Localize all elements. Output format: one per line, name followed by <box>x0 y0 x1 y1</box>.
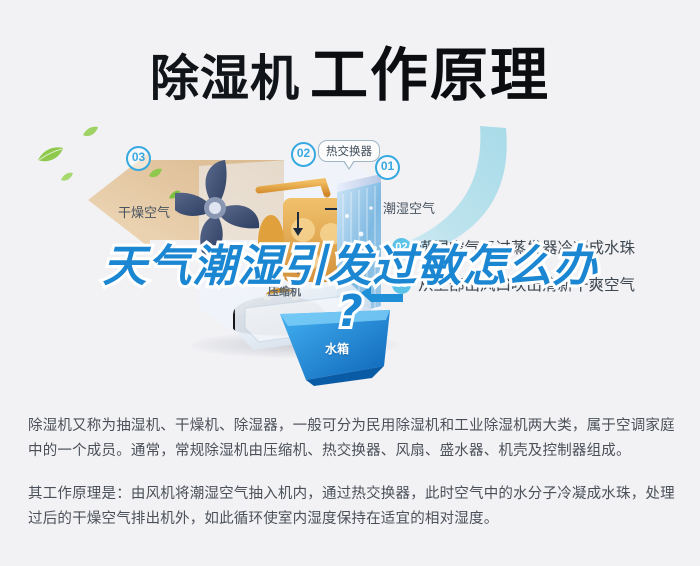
callout-bubble-heat-exchanger: 热交换器 <box>318 140 380 162</box>
page-title-part1: 除湿机 <box>150 50 300 107</box>
leaf-icon <box>36 146 64 164</box>
callout-bubble-label: 热交换器 <box>326 144 372 158</box>
callout-label-dry-air: 干燥空气 <box>118 202 170 221</box>
legend-item: 02 潮湿空气经过蒸发器冷凝成水珠 <box>392 236 692 258</box>
legend-text-03: 从上部出风口吹出清新干爽空气 <box>418 273 635 295</box>
callout-badge-02: 02 <box>291 142 316 167</box>
leaf-icon <box>148 168 163 179</box>
part-label-water-tank: 水箱 <box>325 340 349 357</box>
leaf-icon <box>60 172 74 182</box>
legend-text-02: 潮湿空气经过蒸发器冷凝成水珠 <box>418 236 635 258</box>
part-label-compressor: 压缩机 <box>268 283 301 299</box>
legend-badge-03: 03 <box>392 275 411 294</box>
page-title: 除湿机工作原理 <box>0 28 700 112</box>
callout-badge-03: 03 <box>126 146 151 171</box>
legend-item: 03 从上部出风口吹出清新干爽空气 <box>392 273 692 295</box>
bubble-tip-icon <box>343 161 355 170</box>
page-title-part2: 工作原理 <box>310 41 550 109</box>
callout-label-moist-air: 潮湿空气 <box>383 198 435 217</box>
legend-list: 02 潮湿空气经过蒸发器冷凝成水珠 03 从上部出风口吹出清新干爽空气 <box>392 236 692 310</box>
legend-badge-02: 02 <box>392 238 411 257</box>
body-paragraph-1: 除湿机又称为抽湿机、干燥机、除湿器，一般可分为民用除湿机和工业除湿机两大类，属于… <box>28 414 676 464</box>
leaf-icon <box>82 126 99 138</box>
body-copy: 除湿机又称为抽湿机、干燥机、除湿器，一般可分为民用除湿机和工业除湿机两大类，属于… <box>28 414 676 550</box>
callout-badge-01: 01 <box>375 155 400 180</box>
page-root: 除湿机工作原理 <box>0 0 700 566</box>
body-paragraph-2: 其工作原理是：由风机将潮湿空气抽入机内，通过热交换器，此时空气中的水分子冷凝成水… <box>28 482 676 532</box>
